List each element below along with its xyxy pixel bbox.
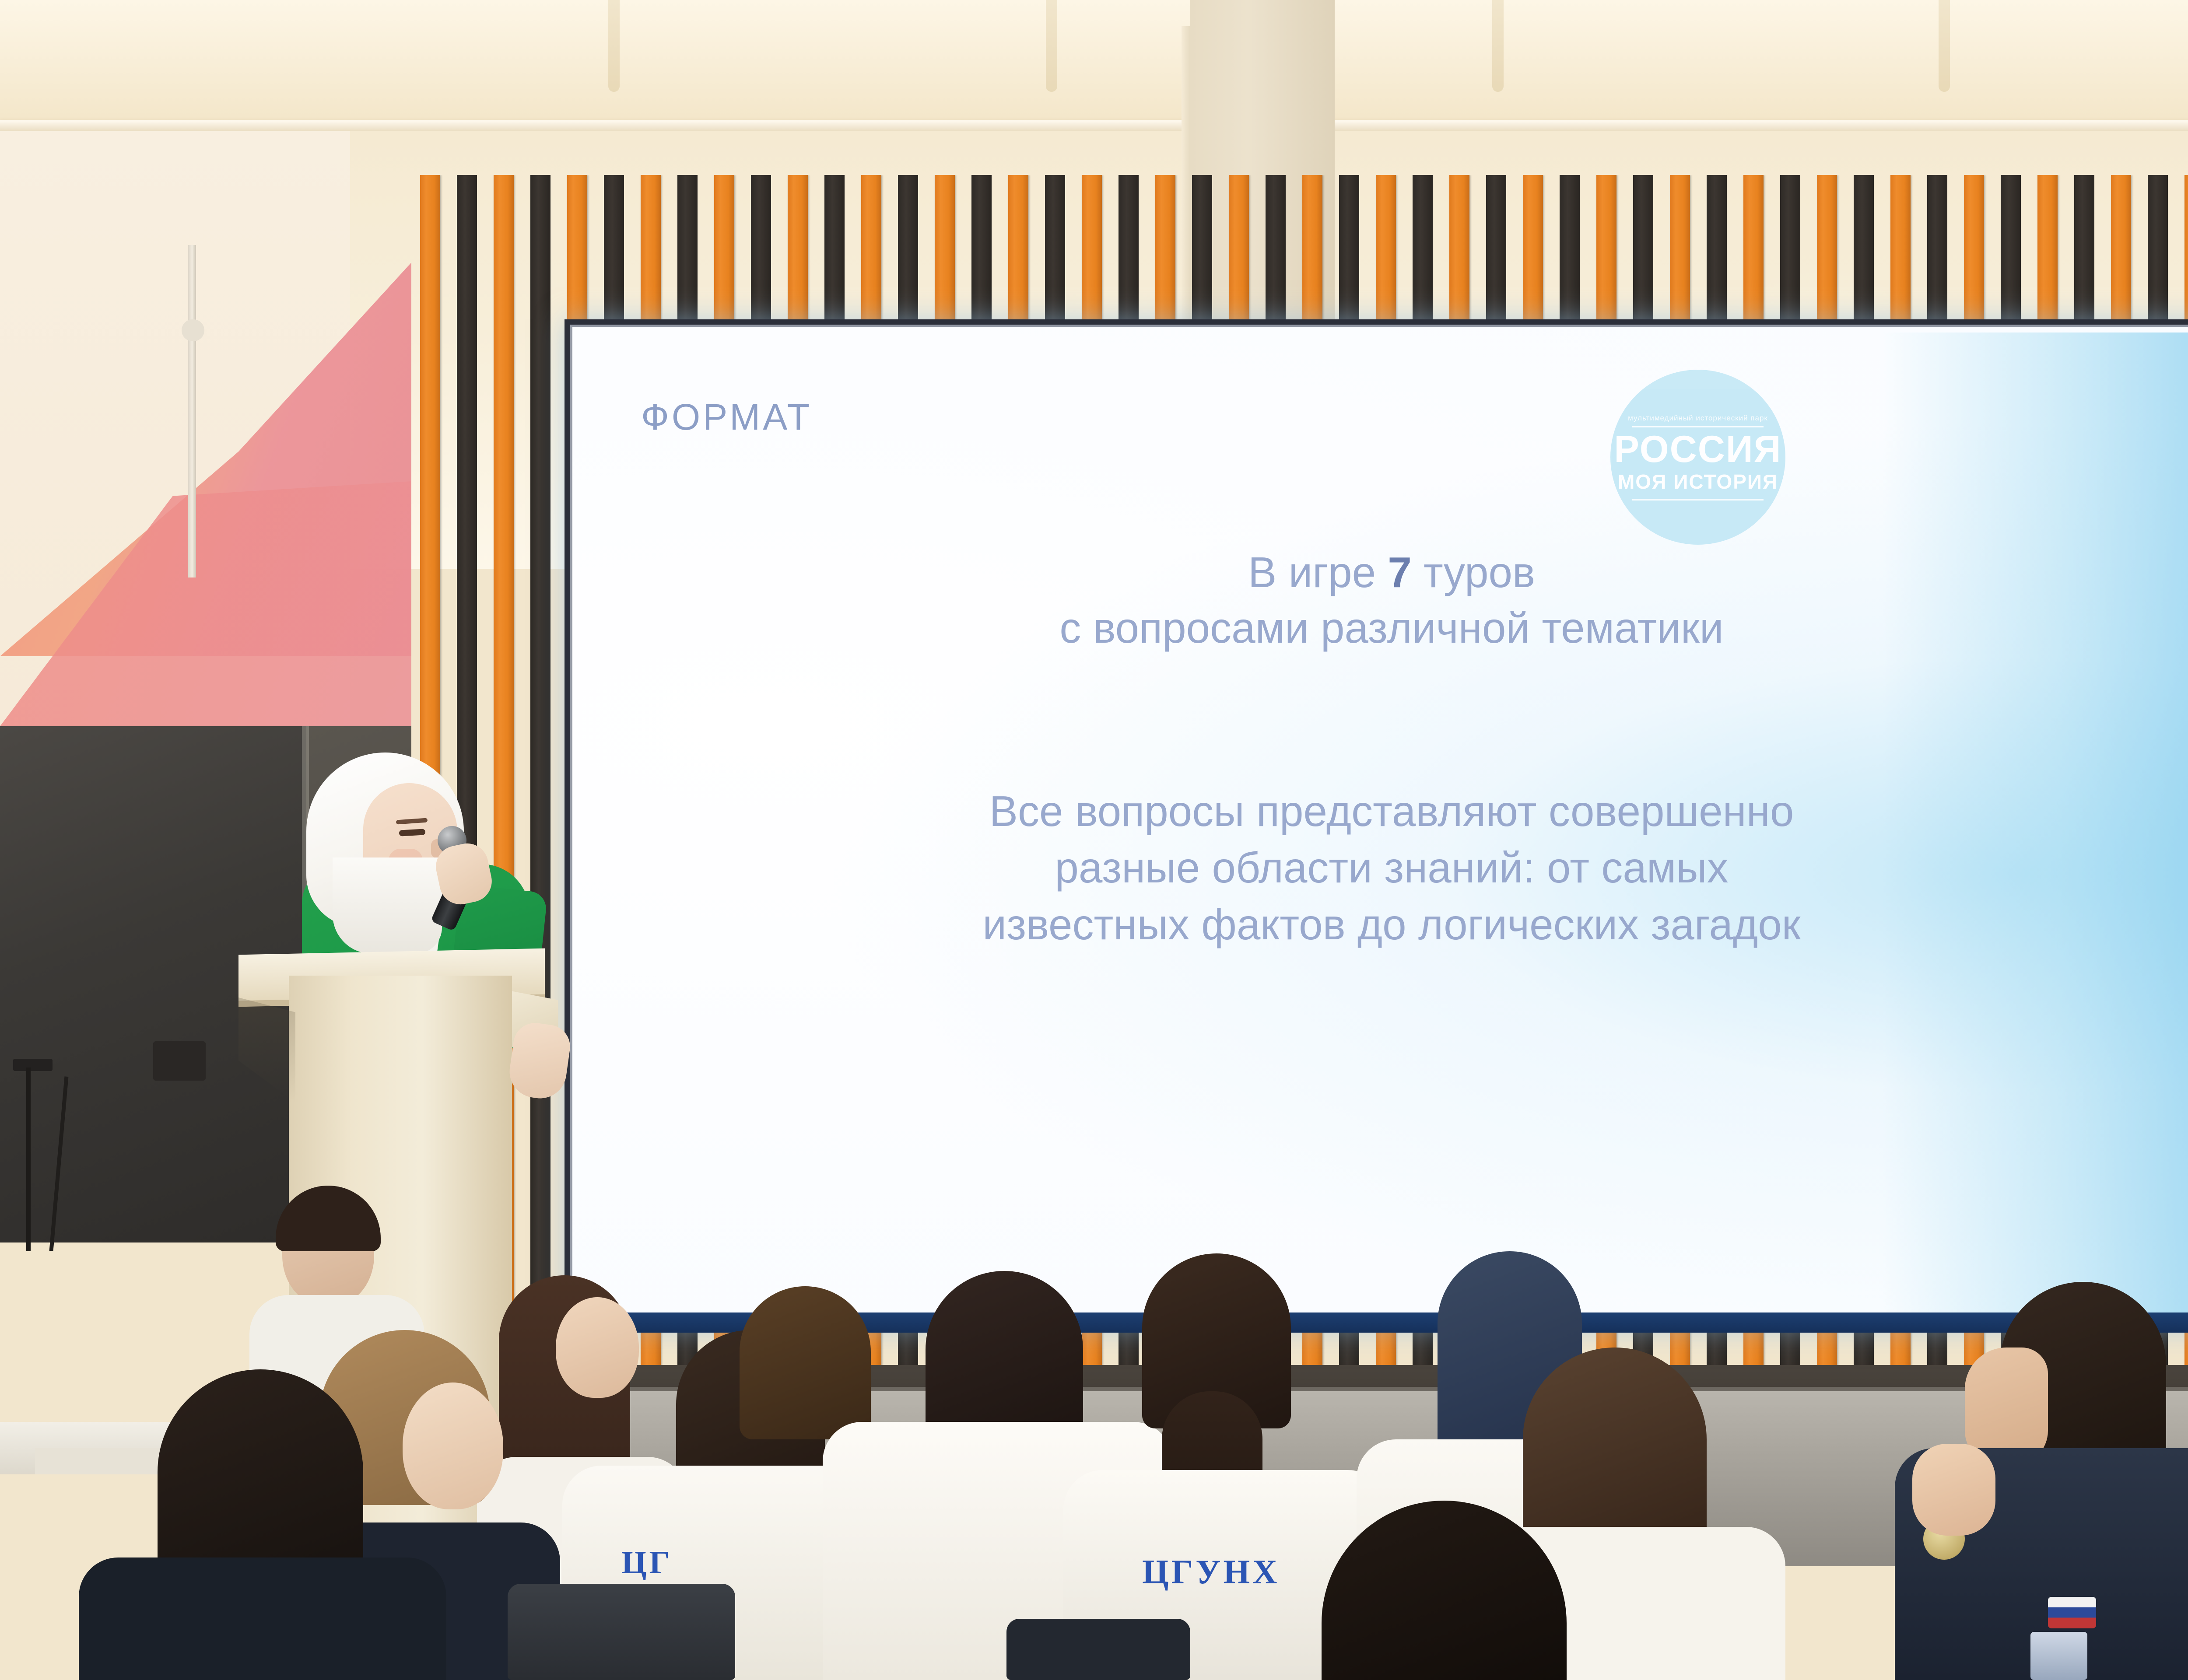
line-text-pre: В игре bbox=[1248, 548, 1388, 596]
slide-line: разные области знаний: от самых bbox=[570, 840, 2188, 896]
ceiling bbox=[0, 0, 2188, 131]
logo-divider bbox=[1632, 499, 1764, 500]
slide-paragraph-2: Все вопросы представляют совершенно разн… bbox=[570, 783, 2188, 953]
slide-line: Все вопросы представляют совершенно bbox=[570, 783, 2188, 840]
glass-partition-clamp bbox=[182, 319, 204, 341]
ceiling-light-slot bbox=[1492, 0, 1504, 92]
speaker-hijab-drape bbox=[333, 857, 442, 954]
slide-paragraph-1: В игре 7 туров с вопросами различной тем… bbox=[570, 545, 2188, 656]
audience-head-back bbox=[740, 1286, 871, 1439]
hoodie-logo-text-center: ЦГУНХ bbox=[1142, 1552, 1280, 1592]
rounds-count: 7 bbox=[1388, 548, 1412, 596]
slide-line: В игре 7 туров bbox=[570, 545, 2188, 600]
logo-divider bbox=[1632, 426, 1764, 427]
hoodie-logo-text-left: ЦГ bbox=[621, 1544, 673, 1582]
shoulder-patch bbox=[2030, 1632, 2087, 1680]
ceiling-lip bbox=[0, 120, 2188, 132]
audience-shoulders bbox=[79, 1557, 446, 1680]
presentation-hall-photo: ФОРМАТ мультимедийный исторический парк … bbox=[0, 0, 2188, 1680]
audience-head-back bbox=[158, 1369, 363, 1588]
audience-head bbox=[556, 1297, 639, 1398]
chair bbox=[508, 1584, 735, 1680]
audience-head bbox=[403, 1382, 503, 1509]
logo-sub-text: МОЯ ИСТОРИЯ bbox=[1618, 470, 1778, 493]
ceiling-light-slot bbox=[1939, 0, 1950, 92]
audience-hand bbox=[1912, 1444, 1995, 1536]
tripod-head bbox=[13, 1059, 53, 1071]
ceiling-light-slot bbox=[608, 0, 620, 92]
slide-eyebrow-title: ФОРМАТ bbox=[641, 396, 812, 438]
line-text-post: туров bbox=[1412, 548, 1535, 596]
audience-head-back bbox=[1523, 1347, 1707, 1557]
audience-table bbox=[35, 1448, 166, 1474]
camera-rig bbox=[153, 1041, 206, 1081]
glass-partition-post bbox=[188, 245, 196, 577]
ceiling-light-slot bbox=[1046, 0, 1057, 92]
tripod-leg bbox=[26, 1067, 31, 1251]
logo-main-text: РОССИЯ bbox=[1614, 432, 1782, 468]
logo-tagline: мультимедийный исторический парк bbox=[1628, 414, 1768, 423]
slide-line: с вопросами различной тематики bbox=[570, 600, 2188, 656]
slide-line: известных фактов до логических загадок bbox=[570, 896, 2188, 953]
rossiya-moya-istoriya-logo: мультимедийный исторический парк РОССИЯ … bbox=[1610, 370, 1785, 545]
chair bbox=[1006, 1619, 1190, 1680]
flag-patch bbox=[2048, 1597, 2096, 1628]
